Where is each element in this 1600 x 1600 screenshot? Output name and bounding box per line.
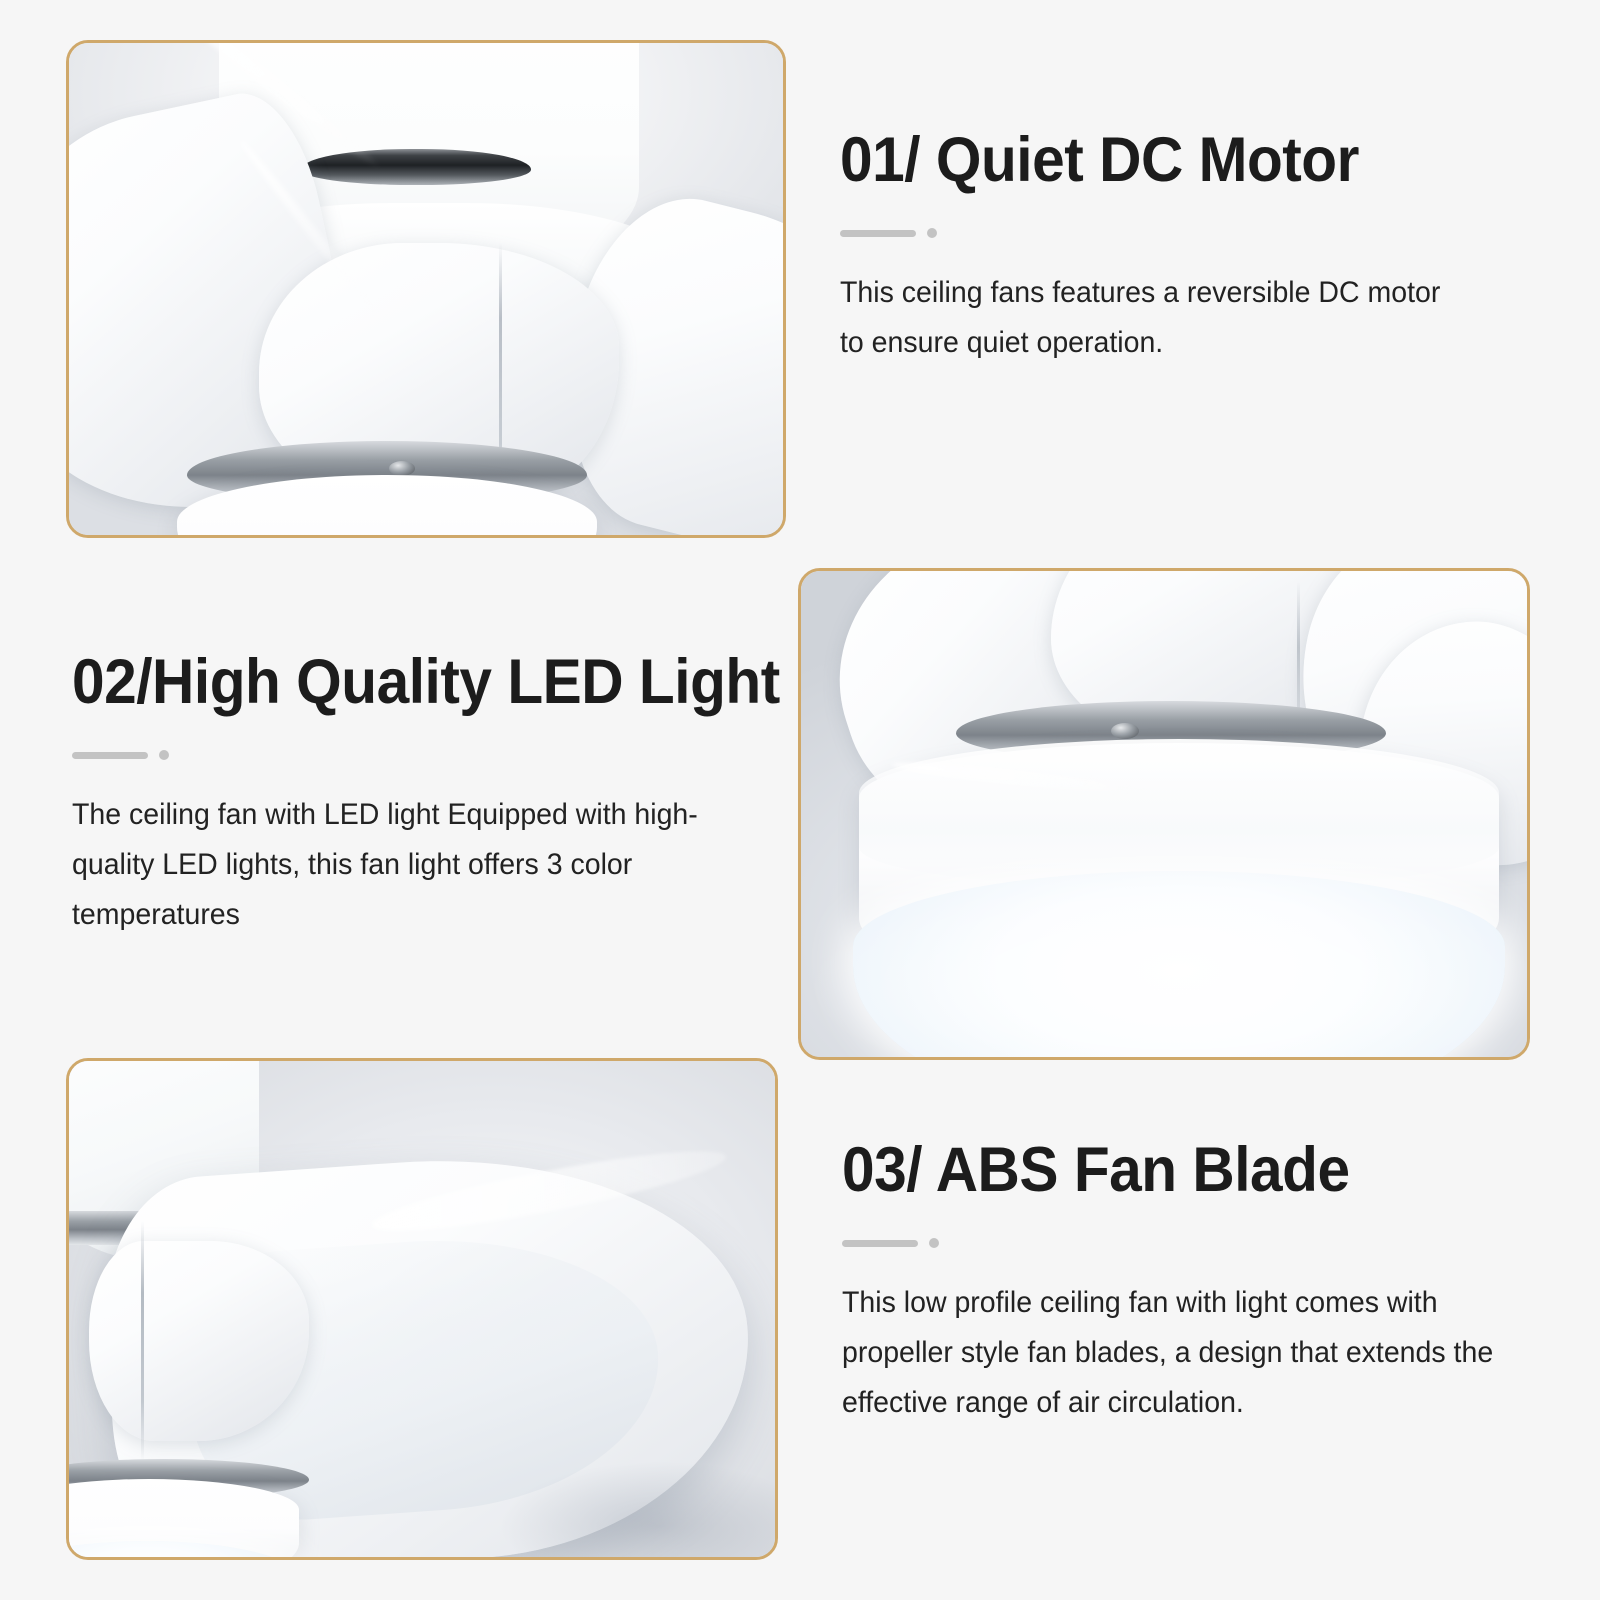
mount-seam [141, 1221, 144, 1461]
feature-block-led: 02/High Quality LED Light The ceiling fa… [72, 648, 812, 940]
drum-rim-shade [859, 739, 1499, 889]
divider-bar [842, 1240, 918, 1247]
feature-block-motor: 01/ Quiet DC Motor This ceiling fans fea… [840, 126, 1500, 368]
feature-divider-02 [72, 750, 812, 760]
infographic-page: 01/ Quiet DC Motor This ceiling fans fea… [0, 0, 1600, 1600]
blade-drop-shadow [499, 1461, 775, 1557]
led-glow-spill [811, 871, 1527, 1057]
feature-body-03: This low profile ceiling fan with light … [842, 1278, 1498, 1428]
feature-body-02: The ceiling fan with LED light Equipped … [72, 790, 775, 940]
feature-body-01: This ceiling fans features a reversible … [840, 268, 1467, 368]
led-photo [801, 571, 1527, 1057]
feature-image-card-led [798, 568, 1530, 1060]
motor-photo [69, 43, 783, 535]
divider-bar [840, 230, 916, 237]
hub-screw [389, 461, 415, 476]
divider-bar [72, 752, 148, 759]
blade-photo [69, 1061, 775, 1557]
divider-dot [159, 750, 169, 760]
feature-divider-03 [842, 1238, 1532, 1248]
feature-heading-03: 03/ ABS Fan Blade [842, 1136, 1484, 1204]
divider-dot [927, 228, 937, 238]
divider-dot [929, 1238, 939, 1248]
feature-heading-02: 02/High Quality LED Light [72, 648, 760, 716]
hub-screw [1111, 723, 1139, 739]
feature-image-card-blade [66, 1058, 778, 1560]
chrome-ring-upper [301, 149, 531, 185]
feature-block-blade: 03/ ABS Fan Blade This low profile ceili… [842, 1136, 1532, 1428]
feature-divider-01 [840, 228, 1500, 238]
feature-heading-01: 01/ Quiet DC Motor [840, 126, 1454, 194]
feature-image-card-motor [66, 40, 786, 538]
